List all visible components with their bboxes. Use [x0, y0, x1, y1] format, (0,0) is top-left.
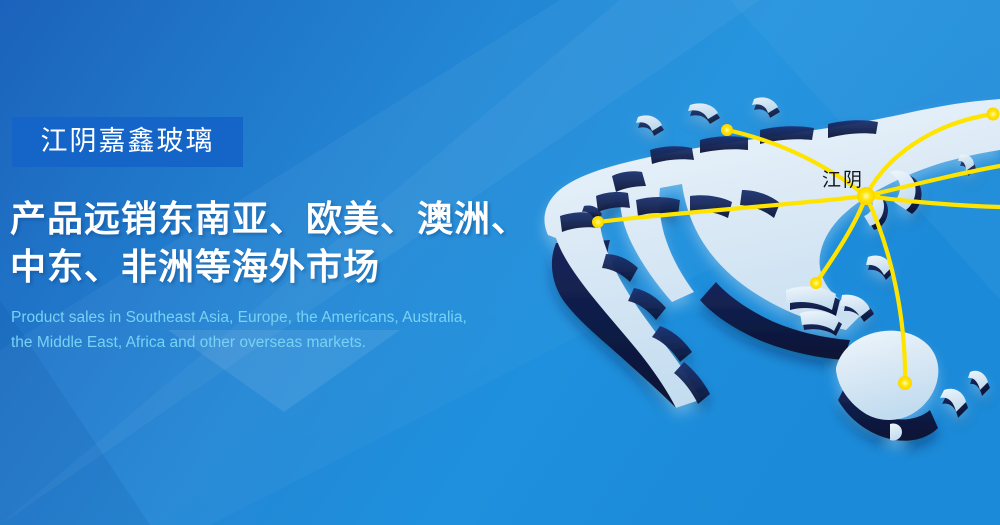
hub-label-jiangyin: 江阴	[822, 165, 864, 192]
banner-text-block: 江阴嘉鑫玻璃 产品远销东南亚、欧美、澳洲、 中东、非洲等海外市场 Product…	[0, 0, 600, 525]
subtitle: Product sales in Southeast Asia, Europe,…	[11, 305, 581, 355]
promo-banner: 江阴 江阴嘉鑫玻璃 产品远销东南亚、欧美、澳洲、 中东、非洲等海外市场 Prod…	[0, 0, 1000, 525]
brand-badge-label: 江阴嘉鑫玻璃	[12, 117, 243, 167]
headline-line-1: 产品远销东南亚、欧美、澳洲、	[10, 196, 570, 244]
subtitle-line-2: the Middle East, Africa and other overse…	[11, 330, 581, 355]
node-southeast-asia	[810, 277, 822, 289]
headline: 产品远销东南亚、欧美、澳洲、 中东、非洲等海外市场	[10, 196, 570, 292]
subtitle-line-1: Product sales in Southeast Asia, Europe,…	[11, 305, 581, 330]
new-zealand-islands	[940, 371, 990, 418]
node-north-pacific	[987, 108, 1000, 121]
node-australia	[898, 376, 912, 390]
map-landmass-group	[544, 97, 1000, 440]
node-north-europe	[721, 124, 733, 136]
headline-line-2: 中东、非洲等海外市场	[10, 244, 570, 292]
brand-badge: 江阴嘉鑫玻璃	[12, 117, 243, 167]
